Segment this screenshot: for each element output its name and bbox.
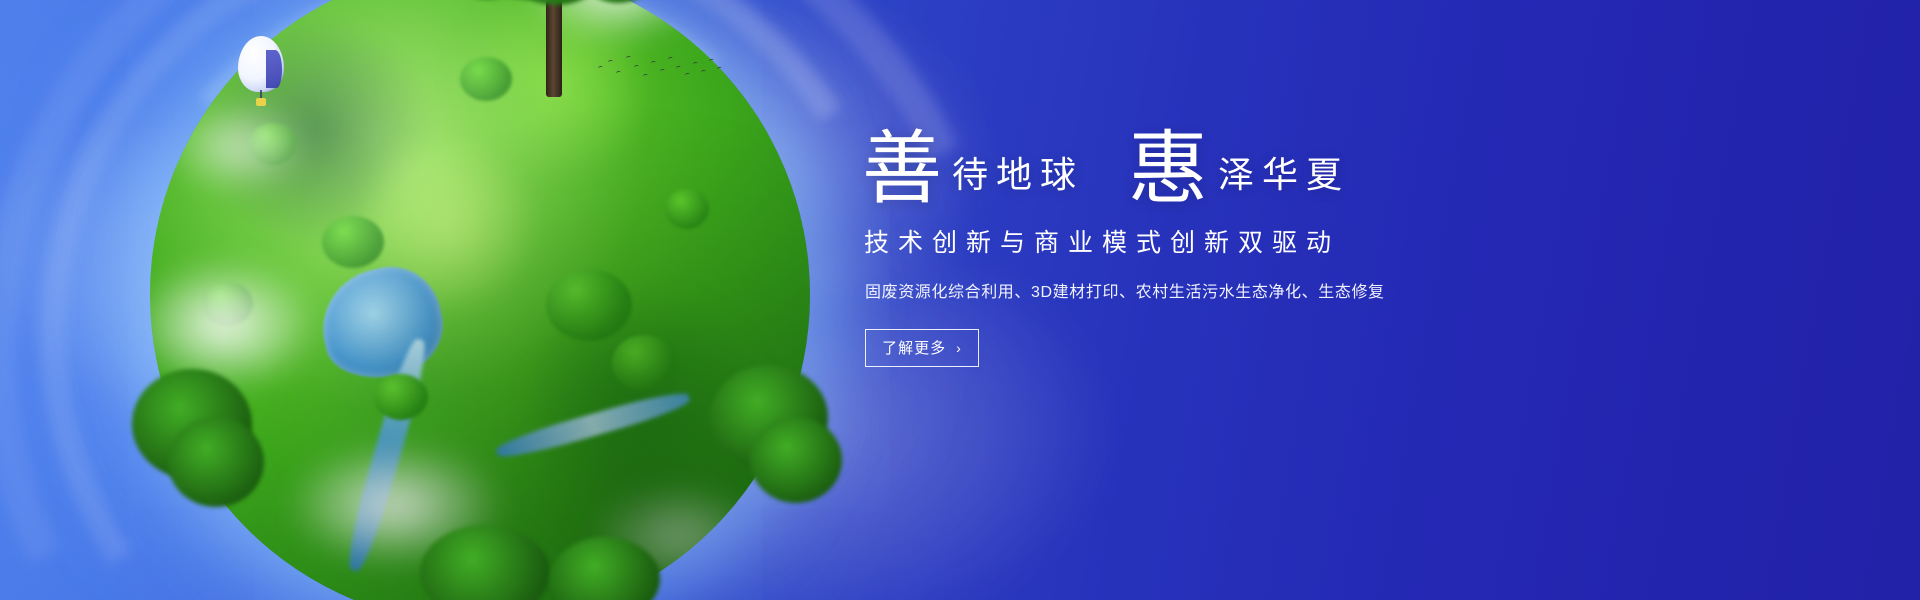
headline-text-zehuaxia: 泽华夏 (1218, 157, 1350, 193)
headline-char-hui: 惠 (1128, 136, 1208, 205)
hero-banner: 善 待地球 惠 泽华夏 技术创新与商业模式创新双驱动 固废资源化综合利用、3D建… (0, 0, 1920, 600)
learn-more-button[interactable]: 了解更多 › (865, 329, 979, 367)
chevron-right-icon: › (956, 341, 962, 355)
tree-silhouette (168, 417, 264, 507)
flying-birds (596, 52, 726, 86)
bush (665, 189, 709, 229)
hero-description: 固废资源化综合利用、3D建材打印、农村生活污水生态净化、生态修复 (865, 281, 1542, 305)
bush (322, 216, 384, 268)
mist-cloud (163, 97, 313, 197)
headline-char-shan: 善 (862, 136, 942, 205)
tree-canopy (582, 0, 654, 3)
learn-more-label: 了解更多 (882, 337, 946, 358)
hero-content: 善 待地球 惠 泽华夏 技术创新与商业模式创新双驱动 固废资源化综合利用、3D建… (862, 132, 1542, 367)
balloon-basket (256, 98, 266, 106)
bush (612, 335, 676, 391)
terrain-patch (348, 137, 546, 309)
terrain-patch (190, 18, 441, 242)
tree-trunk (546, 0, 562, 97)
river (342, 336, 433, 574)
balloon-envelope (238, 36, 284, 92)
headline-text-daidiqiu: 待地球 (952, 157, 1084, 193)
tree-canopy (508, 0, 604, 5)
page-title: 善 待地球 惠 泽华夏 (862, 132, 1542, 201)
lake (312, 257, 452, 388)
river (494, 387, 692, 463)
hero-subtitle: 技术创新与商业模式创新双驱动 (864, 223, 1542, 259)
bush (374, 374, 428, 420)
tree-silhouette (750, 417, 842, 503)
bush (546, 269, 632, 341)
bush (249, 123, 297, 165)
bush (203, 282, 253, 326)
hot-air-balloon (238, 36, 284, 112)
terrain-patch (269, 308, 533, 532)
